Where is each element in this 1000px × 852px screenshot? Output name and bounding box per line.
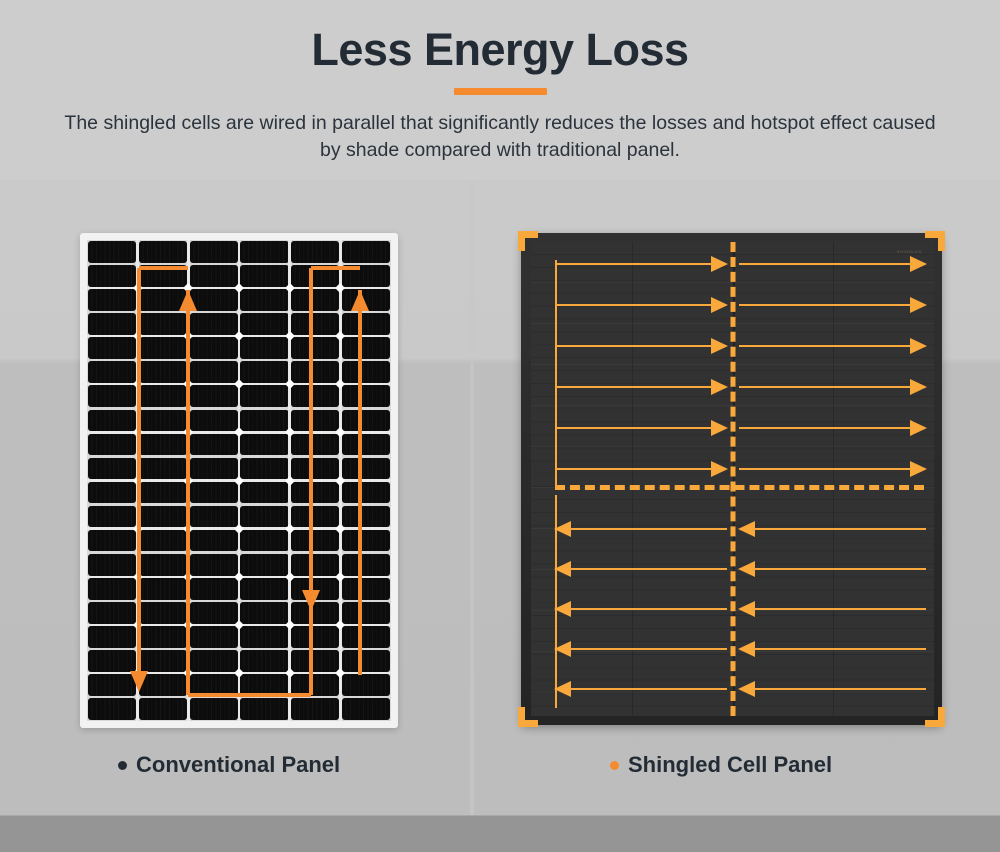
arrow-left-icon: [554, 521, 571, 537]
solar-cell: [88, 698, 136, 720]
solar-cell: [342, 602, 390, 624]
solar-cell: [190, 361, 238, 383]
solar-cell: [190, 602, 238, 624]
solar-cell: [139, 506, 187, 528]
solar-cell: [240, 650, 288, 672]
solar-cell: [88, 361, 136, 383]
parallel-current-line: [739, 427, 914, 429]
solar-cell: [342, 241, 390, 263]
solar-cell: [88, 265, 136, 287]
solar-cell: [190, 626, 238, 648]
solar-cell: [190, 698, 238, 720]
solar-cell: [240, 337, 288, 359]
solar-cell: [291, 337, 339, 359]
caption-shingled-label: Shingled Cell Panel: [628, 752, 832, 778]
solar-cell: [88, 410, 136, 432]
solar-cell: [342, 506, 390, 528]
solar-cell: [240, 313, 288, 335]
arrow-right-icon: [711, 338, 728, 354]
solar-cell: [240, 410, 288, 432]
caption-conventional-panel: Conventional Panel: [118, 752, 340, 778]
solar-cell: [240, 506, 288, 528]
arrow-left-icon: [738, 641, 755, 657]
arrow-left-icon: [554, 681, 571, 697]
parallel-bus-line: [555, 260, 557, 485]
solar-cell: [342, 578, 390, 600]
parallel-current-line: [739, 345, 914, 347]
solar-cell: [291, 241, 339, 263]
panel-brand-microtext: SHINGLED: [897, 249, 922, 254]
parallel-current-line: [555, 263, 714, 265]
solar-cell: [139, 241, 187, 263]
solar-cell: [139, 434, 187, 456]
parallel-current-line: [752, 648, 927, 650]
solar-cell: [342, 313, 390, 335]
series-wire-segment: [188, 693, 311, 696]
solar-cell: [88, 530, 136, 552]
shingled-panel-surface: SHINGLED: [531, 242, 934, 716]
conventional-panel-figure: [80, 233, 398, 728]
parallel-current-line: [568, 688, 727, 690]
solar-cell: [88, 626, 136, 648]
solar-cell: [291, 458, 339, 480]
solar-cell: [240, 385, 288, 407]
solar-cell: [342, 434, 390, 456]
solar-cell: [139, 602, 187, 624]
parallel-current-line: [555, 427, 714, 429]
solar-cell: [88, 289, 136, 311]
solar-cell: [240, 578, 288, 600]
solar-cell: [342, 674, 390, 696]
bullet-dot-icon: [610, 761, 619, 770]
solar-cell: [240, 361, 288, 383]
parallel-current-line: [568, 608, 727, 610]
solar-cell: [88, 458, 136, 480]
arrow-left-icon: [738, 601, 755, 617]
solar-cell: [342, 554, 390, 576]
solar-cell: [88, 650, 136, 672]
solar-cell: [190, 578, 238, 600]
bullet-dot-icon: [118, 761, 127, 770]
solar-cell: [88, 482, 136, 504]
solar-cell: [88, 241, 136, 263]
solar-cell: [139, 410, 187, 432]
parallel-current-line: [752, 528, 927, 530]
parallel-current-line: [568, 568, 727, 570]
parallel-current-line: [752, 608, 927, 610]
solar-cell: [190, 530, 238, 552]
solar-cell: [88, 602, 136, 624]
conventional-panel-surface: [87, 240, 391, 721]
solar-cell: [240, 289, 288, 311]
solar-cell: [342, 530, 390, 552]
solar-cell: [139, 698, 187, 720]
solar-cell: [190, 458, 238, 480]
shingled-panel-figure: SHINGLED: [521, 233, 942, 725]
solar-cell: [240, 530, 288, 552]
solar-cell: [139, 530, 187, 552]
series-wire-segment: [186, 290, 189, 695]
arrow-left-icon: [738, 561, 755, 577]
arrow-down-icon: [302, 590, 320, 611]
solar-cell: [291, 434, 339, 456]
parallel-current-line: [739, 386, 914, 388]
parallel-divider-vertical: [730, 242, 735, 716]
arrow-left-icon: [554, 641, 571, 657]
solar-cell: [240, 698, 288, 720]
solar-cell: [291, 530, 339, 552]
solar-cell: [240, 626, 288, 648]
parallel-current-line: [568, 648, 727, 650]
series-wire-segment: [139, 266, 188, 269]
solar-cell: [291, 554, 339, 576]
corner-bracket-top-right-icon: [925, 231, 945, 251]
series-wire-segment: [309, 268, 312, 695]
solar-cell: [190, 506, 238, 528]
solar-cell: [190, 241, 238, 263]
solar-cell: [139, 482, 187, 504]
arrow-right-icon: [711, 420, 728, 436]
arrow-right-icon: [910, 461, 927, 477]
title-accent-underline: [454, 88, 547, 95]
solar-cell: [291, 506, 339, 528]
arrow-right-icon: [711, 297, 728, 313]
solar-cell: [139, 361, 187, 383]
solar-cell: [342, 626, 390, 648]
solar-cell: [139, 626, 187, 648]
solar-cell: [190, 385, 238, 407]
arrow-right-icon: [910, 420, 927, 436]
solar-cell: [291, 313, 339, 335]
solar-cell: [190, 482, 238, 504]
arrow-up-icon: [179, 290, 197, 311]
page-title: Less Energy Loss: [0, 24, 1000, 76]
series-wire-segment: [358, 290, 361, 675]
solar-cell: [190, 337, 238, 359]
solar-cell: [88, 506, 136, 528]
parallel-current-line: [739, 263, 914, 265]
solar-cell: [342, 337, 390, 359]
solar-cell: [139, 313, 187, 335]
solar-cell: [240, 482, 288, 504]
parallel-current-line: [568, 528, 727, 530]
solar-cell: [291, 698, 339, 720]
solar-cell: [240, 241, 288, 263]
series-wire-segment: [311, 266, 360, 269]
solar-cell: [139, 458, 187, 480]
solar-cell: [342, 458, 390, 480]
corner-bracket-top-left-icon: [518, 231, 538, 251]
solar-cell: [139, 578, 187, 600]
parallel-current-line: [752, 568, 927, 570]
shingled-column-seam: [833, 242, 834, 716]
solar-cell: [88, 385, 136, 407]
arrow-right-icon: [910, 297, 927, 313]
arrow-right-icon: [711, 256, 728, 272]
solar-cell: [240, 265, 288, 287]
solar-cell: [240, 458, 288, 480]
parallel-current-line: [752, 688, 927, 690]
solar-cell: [240, 602, 288, 624]
parallel-divider-horizontal: [555, 485, 924, 490]
solar-cell: [88, 554, 136, 576]
parallel-current-line: [555, 345, 714, 347]
parallel-current-line: [555, 386, 714, 388]
parallel-current-line: [555, 304, 714, 306]
arrow-left-icon: [554, 601, 571, 617]
solar-cell: [291, 289, 339, 311]
solar-cell: [291, 482, 339, 504]
parallel-current-line: [739, 468, 914, 470]
arrow-right-icon: [711, 461, 728, 477]
arrow-left-icon: [738, 521, 755, 537]
solar-cell: [190, 434, 238, 456]
solar-cell: [342, 385, 390, 407]
series-wire-segment: [137, 268, 140, 673]
arrow-down-icon: [130, 671, 148, 692]
parallel-current-line: [739, 304, 914, 306]
solar-cell: [190, 650, 238, 672]
solar-cell: [240, 554, 288, 576]
corner-bracket-bottom-right-icon: [925, 707, 945, 727]
solar-cell: [190, 289, 238, 311]
header: Less Energy Loss The shingled cells are …: [0, 0, 1000, 180]
solar-cell: [342, 410, 390, 432]
arrow-right-icon: [711, 379, 728, 395]
solar-cell: [291, 361, 339, 383]
solar-cell: [342, 698, 390, 720]
solar-cell: [139, 554, 187, 576]
caption-conventional-label: Conventional Panel: [136, 752, 340, 778]
solar-cell: [291, 385, 339, 407]
caption-shingled-panel: Shingled Cell Panel: [610, 752, 832, 778]
solar-cell: [342, 361, 390, 383]
solar-cell: [88, 337, 136, 359]
solar-cell: [88, 313, 136, 335]
solar-cell: [190, 410, 238, 432]
solar-cell: [291, 626, 339, 648]
solar-cell: [139, 385, 187, 407]
solar-cell: [342, 650, 390, 672]
corner-bracket-bottom-left-icon: [518, 707, 538, 727]
solar-cell: [190, 265, 238, 287]
solar-cell: [139, 337, 187, 359]
arrow-left-icon: [554, 561, 571, 577]
card-divider: [470, 360, 474, 815]
solar-cell: [88, 434, 136, 456]
arrow-right-icon: [910, 256, 927, 272]
page-subtitle: The shingled cells are wired in parallel…: [0, 110, 1000, 165]
solar-cell: [139, 650, 187, 672]
arrow-left-icon: [738, 681, 755, 697]
shingled-column-seam: [632, 242, 633, 716]
solar-cell: [190, 313, 238, 335]
solar-cell: [88, 578, 136, 600]
parallel-current-line: [555, 468, 714, 470]
solar-cell: [291, 410, 339, 432]
arrow-right-icon: [910, 338, 927, 354]
arrow-right-icon: [910, 379, 927, 395]
solar-cell: [240, 434, 288, 456]
solar-cell: [190, 554, 238, 576]
solar-cell: [342, 482, 390, 504]
solar-cell: [291, 650, 339, 672]
arrow-up-icon: [351, 290, 369, 311]
